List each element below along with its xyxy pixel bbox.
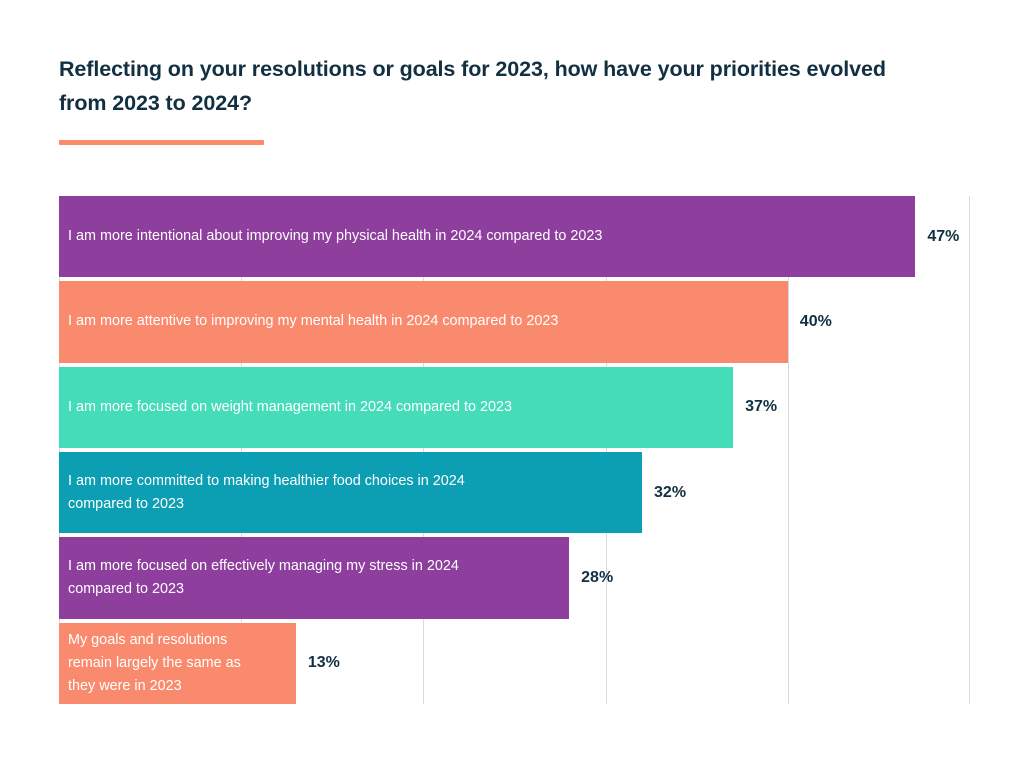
bar-value-label: 40% — [800, 313, 832, 331]
bar-row[interactable]: My goals and resolutions remain largely … — [59, 623, 970, 704]
title-block: Reflecting on your resolutions or goals … — [59, 52, 939, 120]
bar-category-label: My goals and resolutions remain largely … — [59, 629, 247, 698]
bar-value-label: 47% — [927, 228, 959, 246]
bar-row[interactable]: I am more intentional about improving my… — [59, 196, 970, 277]
bar[interactable]: I am more intentional about improving my… — [59, 196, 915, 277]
bar-series: I am more intentional about improving my… — [59, 196, 970, 704]
bar-category-label: I am more attentive to improving my ment… — [59, 310, 564, 333]
bar[interactable]: My goals and resolutions remain largely … — [59, 623, 296, 704]
bar[interactable]: I am more committed to making healthier … — [59, 452, 642, 533]
bar-category-label: I am more committed to making healthier … — [59, 470, 471, 516]
bar[interactable]: I am more focused on effectively managin… — [59, 537, 569, 618]
bar-row[interactable]: I am more committed to making healthier … — [59, 452, 970, 533]
page-title: Reflecting on your resolutions or goals … — [59, 52, 939, 120]
plot-area: I am more intentional about improving my… — [59, 196, 970, 704]
bar-row[interactable]: I am more focused on effectively managin… — [59, 537, 970, 618]
bar-category-label: I am more focused on weight management i… — [59, 396, 518, 419]
bar-value-label: 32% — [654, 484, 686, 502]
bar-row[interactable]: I am more focused on weight management i… — [59, 367, 970, 448]
bar-value-label: 37% — [745, 398, 777, 416]
chart-page: Reflecting on your resolutions or goals … — [0, 0, 1024, 768]
bar-value-label: 28% — [581, 569, 613, 587]
bar-category-label: I am more focused on effectively managin… — [59, 555, 465, 601]
title-accent-rule — [59, 140, 264, 145]
bar[interactable]: I am more attentive to improving my ment… — [59, 281, 788, 362]
bar-value-label: 13% — [308, 654, 340, 672]
bar-category-label: I am more intentional about improving my… — [59, 225, 608, 248]
bar[interactable]: I am more focused on weight management i… — [59, 367, 733, 448]
bar-row[interactable]: I am more attentive to improving my ment… — [59, 281, 970, 362]
